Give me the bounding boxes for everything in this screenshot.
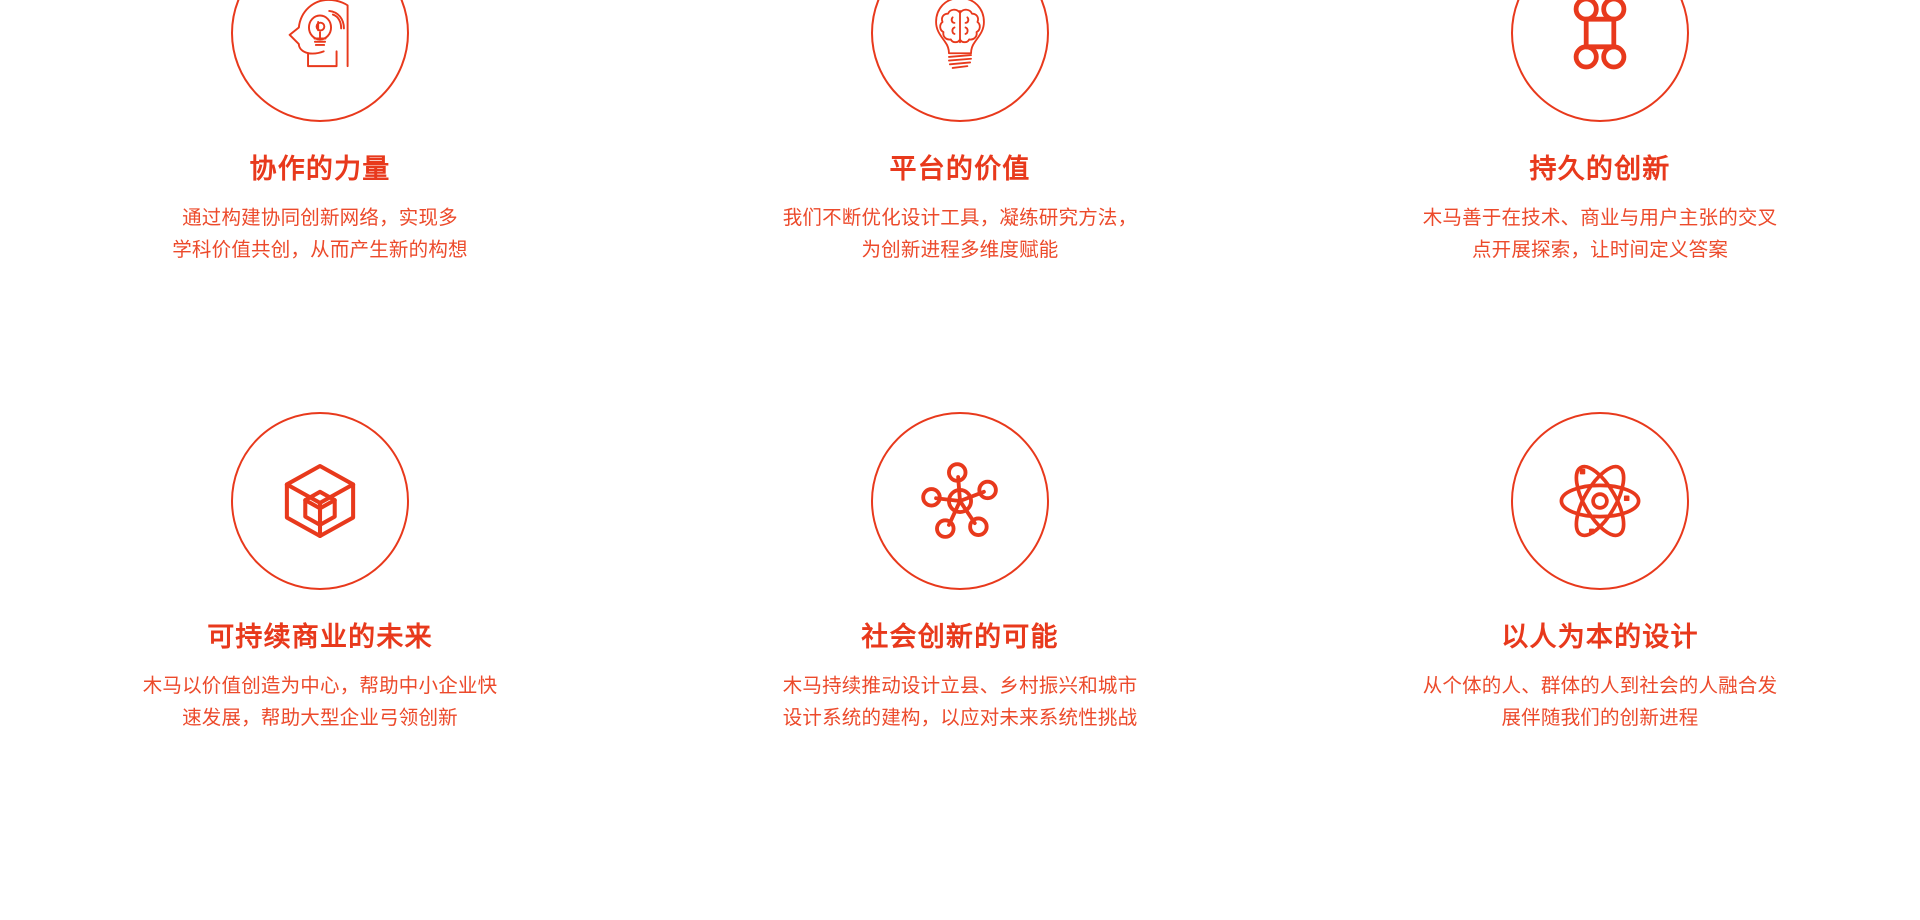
atom-icon <box>1554 455 1646 547</box>
card-description: 木马善于在技术、商业与用户主张的交叉 点开展探索，让时间定义答案 <box>1423 203 1778 266</box>
icon-circle <box>871 412 1049 590</box>
desc-line: 学科价值共创，从而产生新的构想 <box>172 235 468 267</box>
card-description: 木马以价值创造为中心，帮助中小企业快 速发展，帮助大型企业弓领创新 <box>143 671 498 734</box>
network-hub-icon <box>914 455 1006 547</box>
feature-card-platform[interactable]: 平台的价值 我们不断优化设计工具，凝练研究方法， 为创新进程多维度赋能 <box>640 0 1280 400</box>
head-lightbulb-icon <box>274 0 366 79</box>
icon-circle <box>871 0 1049 122</box>
desc-line: 木马以价值创造为中心，帮助中小企业快 <box>143 671 498 703</box>
brain-lightbulb-icon <box>914 0 1006 79</box>
desc-line: 为创新进程多维度赋能 <box>783 235 1138 267</box>
feature-grid: 协作的力量 通过构建协同创新网络，实现多 学科价值共创，从而产生新的构想 平台的… <box>0 0 1920 920</box>
card-description: 我们不断优化设计工具，凝练研究方法， 为创新进程多维度赋能 <box>783 203 1138 266</box>
desc-line: 从个体的人、群体的人到社会的人融合发 <box>1423 671 1778 703</box>
card-title: 协作的力量 <box>250 156 391 183</box>
feature-card-social-innovation[interactable]: 社会创新的可能 木马持续推动设计立县、乡村振兴和城市 设计系统的建构，以应对未来… <box>640 400 1280 820</box>
card-title: 社会创新的可能 <box>861 624 1058 651</box>
feature-card-human-centered[interactable]: 以人为本的设计 从个体的人、群体的人到社会的人融合发 展伴随我们的创新进程 <box>1280 400 1920 820</box>
card-description: 通过构建协同创新网络，实现多 学科价值共创，从而产生新的构想 <box>172 203 468 266</box>
feature-card-sustainable-business[interactable]: 可持续商业的未来 木马以价值创造为中心，帮助中小企业快 速发展，帮助大型企业弓领… <box>0 400 640 820</box>
desc-line: 展伴随我们的创新进程 <box>1423 703 1778 735</box>
card-title: 以人为本的设计 <box>1501 624 1698 651</box>
command-loop-icon <box>1554 0 1646 79</box>
card-title: 平台的价值 <box>890 156 1031 183</box>
feature-card-innovation[interactable]: 持久的创新 木马善于在技术、商业与用户主张的交叉 点开展探索，让时间定义答案 <box>1280 0 1920 400</box>
card-title: 可持续商业的未来 <box>207 624 433 651</box>
icon-circle <box>231 412 409 590</box>
desc-line: 木马持续推动设计立县、乡村振兴和城市 <box>783 671 1138 703</box>
card-description: 木马持续推动设计立县、乡村振兴和城市 设计系统的建构，以应对未来系统性挑战 <box>783 671 1138 734</box>
desc-line: 点开展探索，让时间定义答案 <box>1423 235 1778 267</box>
card-title: 持久的创新 <box>1530 156 1671 183</box>
desc-line: 通过构建协同创新网络，实现多 <box>172 203 468 235</box>
feature-card-collaboration[interactable]: 协作的力量 通过构建协同创新网络，实现多 学科价值共创，从而产生新的构想 <box>0 0 640 400</box>
icon-circle <box>1511 412 1689 590</box>
card-description: 从个体的人、群体的人到社会的人融合发 展伴随我们的创新进程 <box>1423 671 1778 734</box>
desc-line: 速发展，帮助大型企业弓领创新 <box>143 703 498 735</box>
desc-line: 设计系统的建构，以应对未来系统性挑战 <box>783 703 1138 735</box>
desc-line: 我们不断优化设计工具，凝练研究方法， <box>783 203 1138 235</box>
icon-circle <box>231 0 409 122</box>
icon-circle <box>1511 0 1689 122</box>
desc-line: 木马善于在技术、商业与用户主张的交叉 <box>1423 203 1778 235</box>
isometric-cube-icon <box>274 455 366 547</box>
